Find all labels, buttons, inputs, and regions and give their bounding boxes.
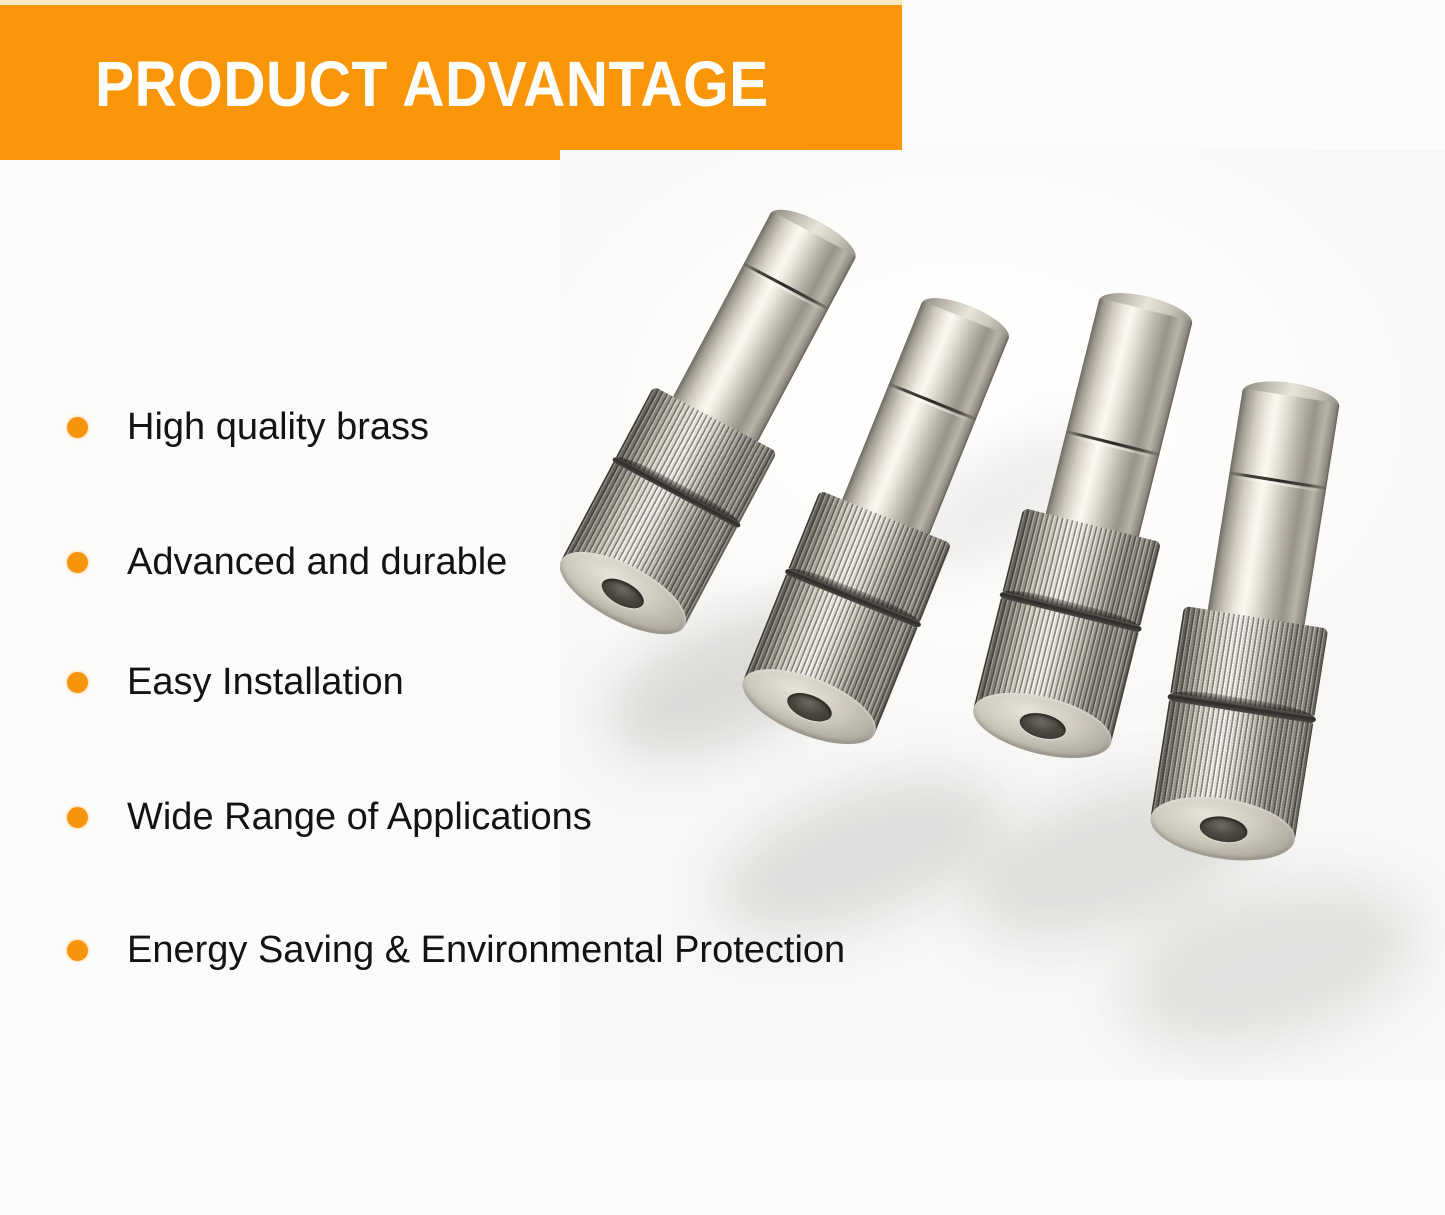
advantage-list: High quality brass Advanced and durable … — [0, 0, 1000, 1215]
bullet-dot-icon — [67, 807, 88, 828]
list-item: Wide Range of Applications — [67, 794, 592, 840]
list-item-label: High quality brass — [127, 404, 429, 450]
product-advantage-infographic: PRODUCT ADVANTAGE — [0, 0, 1445, 1215]
bullet-dot-icon — [67, 672, 88, 693]
list-item-label: Energy Saving & Environmental Protection — [127, 927, 845, 973]
list-item: Energy Saving & Environmental Protection — [67, 927, 845, 973]
list-item: Advanced and durable — [67, 539, 507, 585]
list-item: High quality brass — [67, 404, 429, 450]
list-item-label: Advanced and durable — [127, 539, 507, 585]
nozzle-stem — [1206, 388, 1340, 636]
list-item: Easy Installation — [67, 659, 404, 705]
list-item-label: Wide Range of Applications — [127, 794, 592, 840]
list-item-label: Easy Installation — [127, 659, 404, 705]
bullet-dot-icon — [67, 417, 88, 438]
bullet-dot-icon — [67, 552, 88, 573]
bullet-dot-icon — [67, 940, 88, 961]
